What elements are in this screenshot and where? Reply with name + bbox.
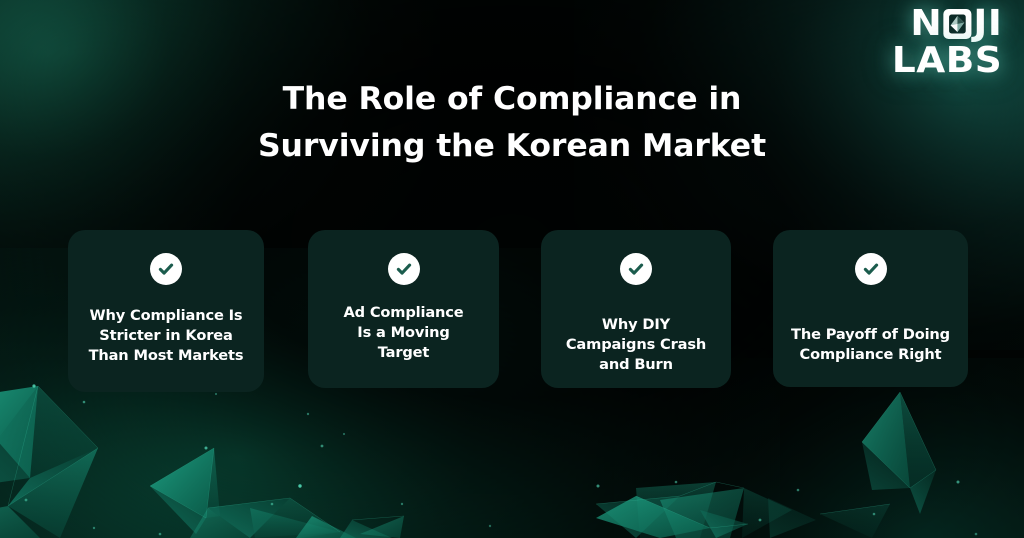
diamond-gem-icon (942, 6, 973, 42)
page-title-line-3: Market (642, 128, 766, 164)
topic-card[interactable]: The Payoff of Doing Compliance Right (773, 230, 968, 387)
topic-card[interactable]: Why Compliance Is Stricter in Korea Than… (68, 230, 264, 392)
topic-card-label: Why DIY Campaigns Crash and Burn (566, 315, 706, 375)
topic-card-label-line: Campaigns Crash (566, 335, 706, 355)
page-title-line-1: The Role of Compliance in (283, 81, 742, 117)
check-circle-icon (855, 253, 887, 285)
logo-letters-ji: JI (973, 6, 1002, 42)
topic-card[interactable]: Ad Compliance Is a Moving Target (308, 230, 499, 388)
topic-card-label-line: The Payoff of Doing (791, 325, 950, 345)
slide-canvas: N JI LABS The Role of Compliance in Surv… (0, 0, 1024, 538)
logo-line-2: LABS (892, 43, 1002, 79)
logo-letter-n: N (910, 6, 942, 42)
scatter-dots (25, 375, 978, 536)
brand-logo[interactable]: N JI LABS (894, 6, 1000, 79)
topic-card[interactable]: Why DIY Campaigns Crash and Burn (541, 230, 731, 388)
check-circle-icon (150, 253, 182, 285)
topic-card-label-line: Why DIY (566, 315, 706, 335)
logo-line-1: N JI (892, 6, 1002, 42)
topic-card-label: Ad Compliance Is a Moving Target (343, 303, 463, 363)
page-title: The Role of Compliance in Surviving the … (0, 76, 1024, 171)
topic-card-label-line: Compliance Right (791, 345, 950, 365)
check-circle-icon (620, 253, 652, 285)
topic-card-label-line: and Burn (566, 355, 706, 375)
page-title-line-2: Surviving the Korean (258, 128, 631, 164)
topic-card-label-line: Is a Moving (343, 323, 463, 343)
topic-card-label-line: Target (343, 343, 463, 363)
topic-card-row: Why Compliance Is Stricter in Korea Than… (68, 230, 968, 392)
topic-card-label-line: Than Most Markets (89, 346, 244, 366)
topic-card-label-line: Stricter in Korea (89, 326, 244, 346)
check-circle-icon (388, 253, 420, 285)
topic-card-label-line: Ad Compliance (343, 303, 463, 323)
topic-card-label: Why Compliance Is Stricter in Korea Than… (89, 306, 244, 366)
topic-card-label: The Payoff of Doing Compliance Right (791, 325, 950, 365)
topic-card-label-line: Why Compliance Is (89, 306, 244, 326)
